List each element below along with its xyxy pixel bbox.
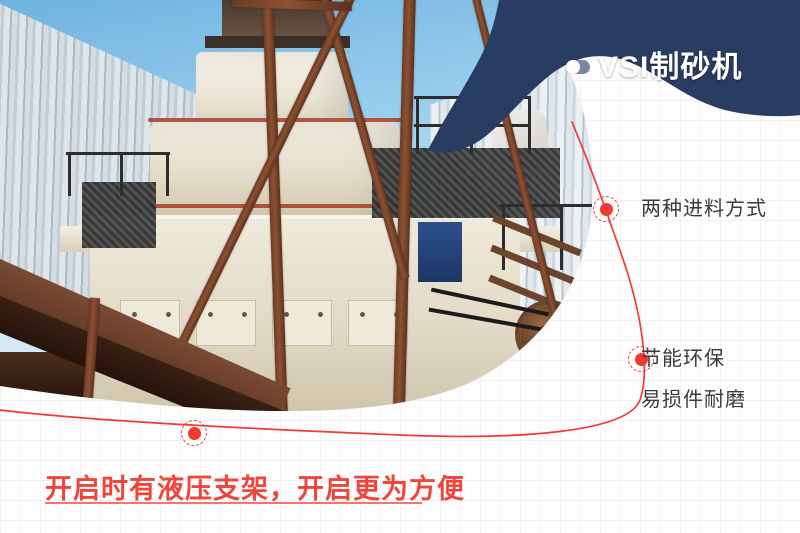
bolt — [242, 312, 247, 317]
caption-underline — [45, 502, 422, 504]
bolt — [360, 312, 365, 317]
mesh-panel-left — [82, 182, 156, 248]
bolt — [166, 312, 171, 317]
railing-post — [120, 152, 123, 196]
railing-bar — [66, 152, 170, 155]
railing-bar — [500, 204, 598, 207]
marker-dot-icon — [593, 196, 619, 222]
railing-post — [560, 204, 563, 270]
bolt — [132, 312, 137, 317]
annotation-label-energy: 节能环保 — [641, 342, 725, 371]
bolt-plate — [196, 300, 256, 346]
bottom-caption: 开启时有液压支架，开启更为方便 — [45, 467, 465, 506]
bullet-dot-icon — [566, 60, 590, 74]
railing-post — [502, 204, 505, 270]
bolt — [284, 312, 289, 317]
annotation-label-feeding: 两种进料方式 — [641, 192, 767, 221]
railing-post — [166, 152, 169, 196]
marker-dot-icon — [181, 420, 207, 446]
blue-control-box — [418, 222, 462, 282]
annotation-label-wear: 易损件耐磨 — [641, 383, 746, 412]
page-title: VSI制砂机 — [598, 42, 742, 86]
promo-banner: VSI制砂机 两种进料方式 节能环保 易损件耐磨 开启时有液压支架，开启更为方便 — [0, 0, 800, 533]
bolt — [208, 312, 213, 317]
railing-post — [68, 152, 71, 196]
foliage — [556, 318, 614, 368]
drive-pulley — [520, 305, 578, 363]
bolt — [318, 312, 323, 317]
